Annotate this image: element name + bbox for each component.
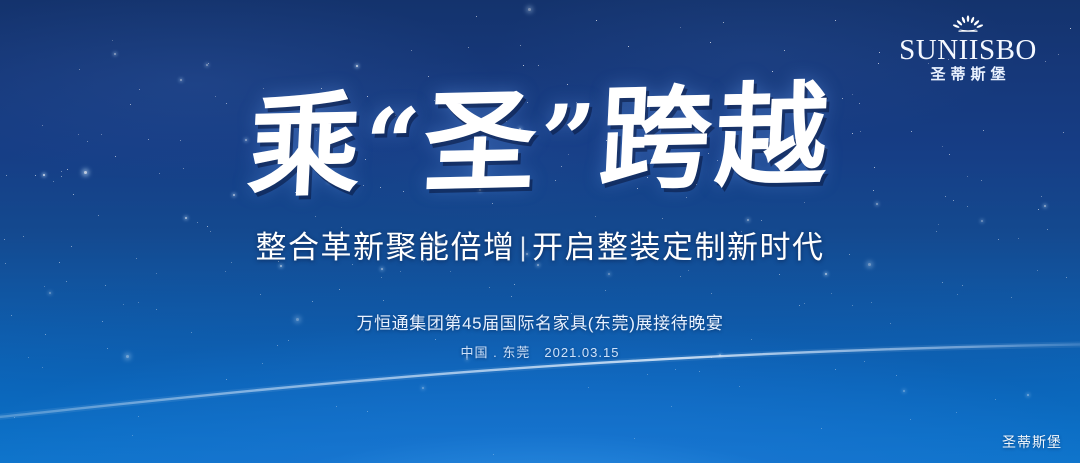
- star: [761, 220, 762, 221]
- star: [957, 294, 958, 295]
- star: [520, 45, 521, 46]
- star: [185, 217, 187, 219]
- star: [710, 42, 711, 43]
- star: [903, 390, 905, 392]
- star: [528, 8, 531, 11]
- star: [910, 419, 911, 420]
- star: [747, 219, 749, 221]
- star: [156, 309, 157, 310]
- star: [634, 438, 635, 439]
- star: [1066, 277, 1067, 278]
- star: [208, 63, 209, 64]
- star: [381, 277, 382, 278]
- star: [835, 369, 836, 370]
- star: [871, 302, 872, 303]
- star: [356, 65, 358, 67]
- star: [1038, 209, 1039, 210]
- star: [42, 367, 43, 368]
- star: [112, 40, 113, 41]
- star: [1058, 54, 1059, 55]
- star: [138, 302, 139, 303]
- star: [450, 271, 451, 272]
- star: [14, 417, 15, 418]
- star: [945, 196, 946, 197]
- event-date-location: 中国 . 东莞 2021.03.15: [0, 343, 1080, 363]
- star: [180, 79, 182, 81]
- star: [1070, 28, 1071, 29]
- star: [514, 284, 515, 285]
- star: [489, 287, 490, 288]
- event-banner: SUNIISBO 圣蒂斯堡 乘“圣”跨越 整合革新聚能倍增|开启整装定制新时代 …: [0, 0, 1080, 463]
- star: [312, 301, 313, 302]
- title-quote-close: ”: [537, 83, 602, 197]
- star: [739, 386, 740, 387]
- star: [675, 369, 676, 370]
- star: [680, 276, 681, 277]
- star: [493, 454, 494, 455]
- star: [1037, 270, 1038, 271]
- star: [995, 399, 996, 400]
- title-char-4: 越: [712, 70, 835, 203]
- star: [967, 206, 968, 207]
- star: [821, 428, 822, 429]
- logo-wordmark: SUNIISBO: [890, 35, 1046, 65]
- subtitle-right: 开启整装定制新时代: [532, 230, 825, 265]
- star: [468, 47, 469, 48]
- star: [804, 303, 805, 304]
- star: [381, 268, 383, 270]
- star: [428, 76, 429, 77]
- star: [336, 406, 337, 407]
- star: [647, 374, 648, 375]
- star: [699, 371, 700, 372]
- star: [956, 412, 957, 413]
- star: [784, 50, 785, 51]
- star: [225, 271, 226, 272]
- lotus-sunburst-icon: [948, 14, 988, 34]
- page-title: 乘“圣”跨越: [0, 71, 1080, 213]
- star: [723, 22, 724, 23]
- star: [878, 63, 879, 64]
- star: [831, 293, 832, 294]
- star: [852, 305, 853, 306]
- star: [207, 226, 208, 227]
- title-char-2: 圣: [421, 76, 544, 209]
- star: [132, 435, 133, 436]
- star: [608, 273, 610, 275]
- star: [367, 411, 368, 412]
- star: [400, 271, 401, 272]
- star: [79, 69, 80, 70]
- star: [197, 222, 198, 223]
- star: [138, 416, 139, 417]
- star: [751, 339, 752, 340]
- star: [422, 387, 424, 389]
- star: [596, 20, 597, 21]
- title-char-3: 跨: [596, 72, 719, 205]
- star: [66, 281, 67, 282]
- star: [671, 406, 672, 407]
- star: [339, 289, 340, 290]
- star: [628, 46, 629, 47]
- star: [962, 285, 963, 286]
- star: [411, 50, 412, 51]
- star: [835, 20, 836, 21]
- star: [662, 218, 663, 219]
- star: [1027, 394, 1029, 396]
- star: [49, 292, 51, 294]
- star: [779, 274, 780, 275]
- title-quote-open: “: [362, 86, 427, 200]
- star: [799, 305, 800, 306]
- star: [123, 304, 124, 305]
- event-name: 万恒通集团第45届国际名家具(东莞)展接待晚宴: [0, 312, 1080, 336]
- star: [1011, 297, 1012, 298]
- star: [476, 16, 477, 17]
- star: [825, 273, 827, 275]
- star: [588, 387, 589, 388]
- star: [605, 290, 606, 291]
- star: [938, 224, 939, 225]
- subtitle: 整合革新聚能倍增|开启整装定制新时代: [0, 228, 1080, 267]
- star: [435, 339, 436, 340]
- star: [538, 65, 539, 66]
- star: [260, 294, 261, 295]
- star: [288, 340, 289, 341]
- subtitle-separator: |: [515, 232, 532, 262]
- star: [953, 200, 954, 201]
- star: [879, 52, 880, 53]
- star: [1044, 205, 1046, 207]
- star: [226, 379, 227, 380]
- brand-watermark: 圣蒂斯堡: [1002, 433, 1062, 451]
- star: [105, 285, 106, 286]
- star: [114, 53, 116, 55]
- subtitle-left: 整合革新聚能倍增: [255, 230, 515, 265]
- star: [680, 27, 681, 28]
- star: [711, 293, 712, 294]
- star: [98, 215, 99, 216]
- star: [942, 282, 943, 283]
- star: [688, 270, 689, 271]
- star: [44, 286, 45, 287]
- star: [315, 216, 316, 217]
- star: [156, 273, 157, 274]
- star: [262, 363, 263, 364]
- star: [876, 203, 878, 205]
- star: [981, 220, 983, 222]
- star: [1041, 196, 1042, 197]
- star: [523, 65, 524, 66]
- title-char-1: 乘: [245, 80, 368, 213]
- star: [595, 216, 596, 217]
- star: [511, 296, 512, 297]
- star: [896, 375, 897, 376]
- star: [804, 202, 805, 203]
- star: [383, 300, 384, 301]
- star: [206, 64, 208, 66]
